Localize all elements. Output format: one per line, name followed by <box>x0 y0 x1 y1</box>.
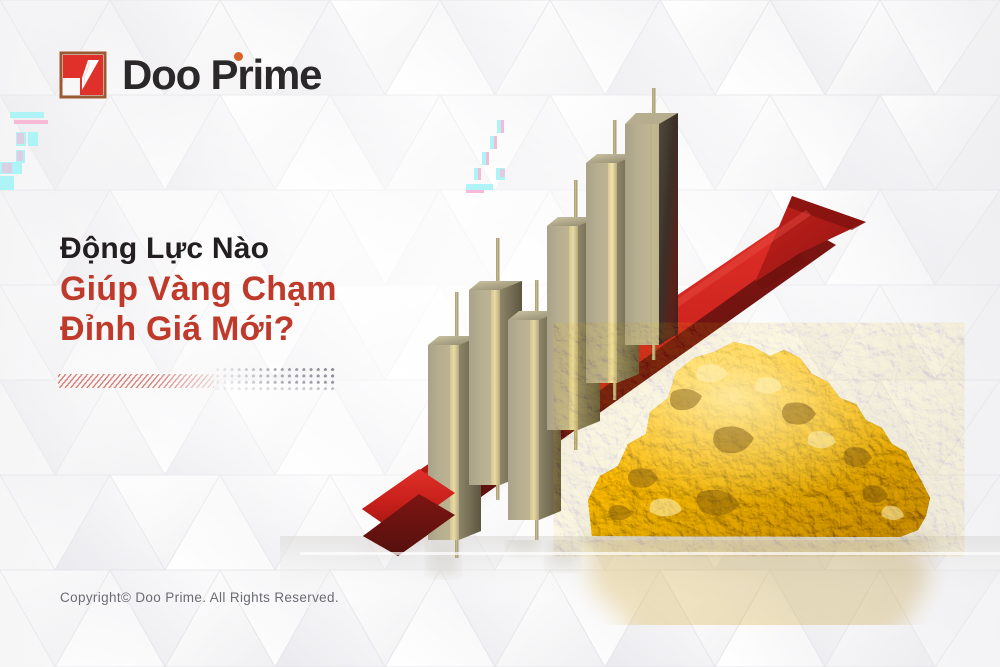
brand-wordmark: Doo Prime <box>122 54 321 96</box>
glitch-pixel-cluster-middle <box>460 110 520 200</box>
candle-reflections <box>428 485 578 576</box>
brand-logo[interactable]: Doo Prime <box>58 50 321 100</box>
candlestick-2 <box>469 238 522 500</box>
decoration-block <box>58 368 358 394</box>
red-arrow-foreground-segment <box>362 469 455 556</box>
candlestick-3 <box>508 280 561 540</box>
diagonal-hatch-bar-icon <box>58 374 214 388</box>
candlestick-1 <box>428 292 481 558</box>
gold-candlestick-chart <box>428 88 678 558</box>
gold-nugget <box>580 342 940 667</box>
headline-block: Động Lực Nào Giúp Vàng Chạm Đỉnh Giá Mới… <box>60 232 337 348</box>
headline-line-3: Đỉnh Giá Mới? <box>60 310 337 348</box>
headline-line-2: Giúp Vàng Chạm <box>60 270 337 308</box>
brand-name-text: Doo Prime <box>122 51 321 98</box>
candlestick-6 <box>625 88 678 360</box>
headline-line-1: Động Lực Nào <box>60 232 337 266</box>
red-up-arrow <box>360 196 866 556</box>
doo-prime-mark-icon <box>58 50 108 100</box>
candlestick-5 <box>586 120 639 400</box>
dot-grid-icon <box>216 368 336 392</box>
poster-canvas: Doo Prime Động Lực Nào Giúp Vàng Chạm Đỉ… <box>0 0 1000 667</box>
copyright-text: Copyright© Doo Prime. All Rights Reserve… <box>60 590 339 605</box>
candlestick-4 <box>547 180 600 450</box>
glitch-pixel-cluster-left <box>0 100 60 200</box>
brand-accent-dot-icon <box>234 52 243 61</box>
